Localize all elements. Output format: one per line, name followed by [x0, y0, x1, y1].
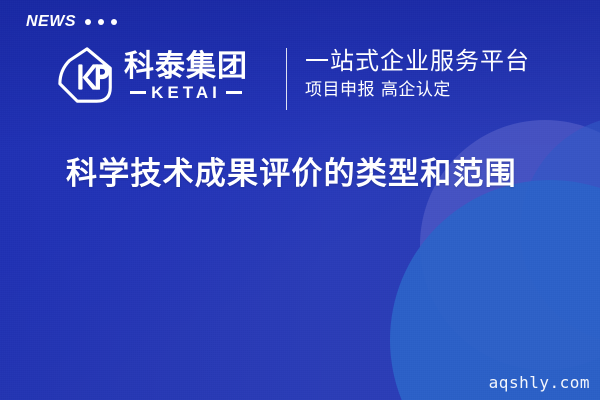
- logo-wordmark: 科泰集团 KETAI: [124, 51, 248, 101]
- news-label: NEWS: [26, 14, 76, 30]
- brand-logo-lockup: 科泰集团 KETAI: [56, 45, 248, 107]
- news-banner: NEWS 科泰集团 KETAI 一站式企业服务平台: [0, 0, 600, 400]
- logo-rule-left: [130, 91, 146, 94]
- logo-english-name: KETAI: [151, 84, 221, 101]
- news-tag: NEWS: [26, 14, 117, 30]
- article-headline: 科学技术成果评价的类型和范围: [66, 155, 517, 194]
- ketai-kp-diamond-logo-icon: [56, 45, 118, 107]
- news-dots-icon: [85, 19, 117, 25]
- logo-english-row: KETAI: [130, 84, 242, 101]
- tagline-main: 一站式企业服务平台: [305, 47, 530, 75]
- logo-rule-right: [226, 91, 242, 94]
- logo-chinese-name: 科泰集团: [124, 51, 248, 83]
- lockup-divider: [286, 48, 287, 110]
- site-watermark: aqshly.com: [489, 373, 590, 392]
- tagline-sub: 项目申报 高企认定: [305, 80, 530, 100]
- tagline-group: 一站式企业服务平台 项目申报 高企认定: [305, 47, 530, 101]
